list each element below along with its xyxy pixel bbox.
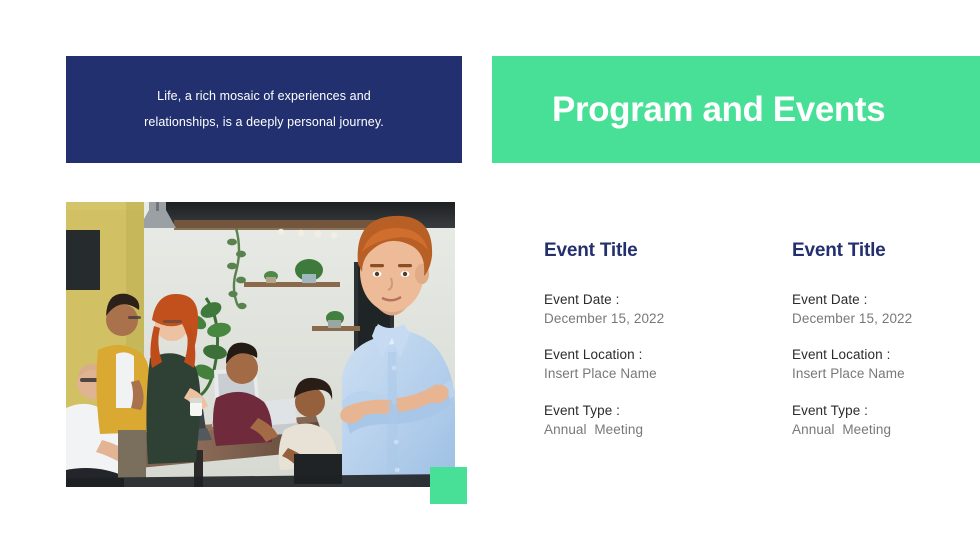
event-type-label-1: Event Type : <box>544 401 716 420</box>
page-title: Program and Events <box>492 90 885 130</box>
event-type-field-2: Event Type : Annual Meeting <box>792 401 964 439</box>
photo-illustration <box>66 202 455 487</box>
event-location-field-2: Event Location : Insert Place Name <box>792 345 964 383</box>
event-date-label-2: Event Date : <box>792 290 964 309</box>
event-date-value-1: December 15, 2022 <box>544 309 716 328</box>
event-date-field-1: Event Date : December 15, 2022 <box>544 290 716 328</box>
quote-box: Life, a rich mosaic of experiences and r… <box>66 56 462 163</box>
event-type-field-1: Event Type : Annual Meeting <box>544 401 716 439</box>
accent-square <box>430 467 467 504</box>
event-column-1: Event Title Event Date : December 15, 20… <box>544 240 716 439</box>
event-column-2: Event Title Event Date : December 15, 20… <box>792 240 964 439</box>
event-title-heading-2: Event Title <box>792 240 964 262</box>
event-location-label-1: Event Location : <box>544 345 716 364</box>
event-location-value-1: Insert Place Name <box>544 364 716 383</box>
events-area: Event Title Event Date : December 15, 20… <box>544 240 964 439</box>
event-date-field-2: Event Date : December 15, 2022 <box>792 290 964 328</box>
event-date-label-1: Event Date : <box>544 290 716 309</box>
event-type-value-2: Annual Meeting <box>792 420 964 439</box>
event-date-value-2: December 15, 2022 <box>792 309 964 328</box>
title-banner: Program and Events <box>492 56 980 163</box>
presentation-slide: Life, a rich mosaic of experiences and r… <box>0 0 980 551</box>
event-location-value-2: Insert Place Name <box>792 364 964 383</box>
team-meeting-photo <box>66 202 455 487</box>
event-location-label-2: Event Location : <box>792 345 964 364</box>
event-location-field-1: Event Location : Insert Place Name <box>544 345 716 383</box>
event-type-label-2: Event Type : <box>792 401 964 420</box>
quote-text: Life, a rich mosaic of experiences and r… <box>144 84 384 135</box>
event-title-heading-1: Event Title <box>544 240 716 262</box>
event-type-value-1: Annual Meeting <box>544 420 716 439</box>
